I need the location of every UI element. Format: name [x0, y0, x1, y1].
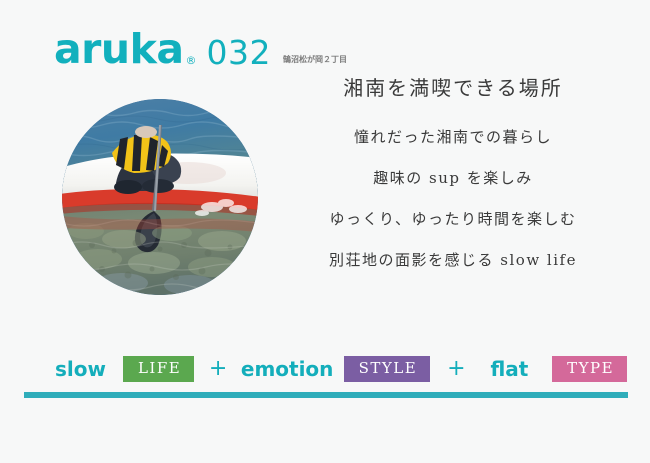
accent-divider: [24, 392, 628, 398]
copy-line-4: 別荘地の面影を感じる slow life: [288, 253, 618, 268]
sup-photo: [62, 99, 258, 295]
copy-line-3: ゆっくり、ゆったり時間を楽しむ: [288, 212, 618, 227]
plus-separator-1: +: [209, 358, 227, 380]
plus-separator-2: +: [447, 358, 465, 380]
registered-trademark-icon: ®: [184, 55, 197, 70]
property-address: 鵠沼松が岡２丁目: [271, 56, 347, 70]
tag-word-emotion: emotion: [241, 359, 334, 379]
brand-wordmark: aruka: [54, 29, 184, 70]
property-number: 032: [197, 36, 272, 70]
copy-line-1: 憧れだった湘南での暮らし: [288, 130, 618, 145]
tag-badge-type: TYPE: [552, 356, 627, 382]
copy-block: 湘南を満喫できる場所 憧れだった湘南での暮らし 趣味の sup を楽しみ ゆっく…: [288, 74, 618, 268]
copy-line-2: 趣味の sup を楽しみ: [288, 171, 618, 186]
tag-badge-life: LIFE: [123, 356, 194, 382]
brand-logo-block: aruka ® 032 鵠沼松が岡２丁目: [54, 29, 347, 70]
tag-badge-style: STYLE: [344, 356, 431, 382]
tag-word-slow: slow: [55, 359, 106, 379]
headline: 湘南を満喫できる場所: [288, 74, 618, 102]
sup-photo-illustration: [62, 99, 258, 295]
slide-canvas: aruka ® 032 鵠沼松が岡２丁目: [0, 0, 650, 463]
tag-word-flat: flat: [490, 359, 528, 379]
feature-tag-bar: slow LIFE + emotion STYLE + flat TYPE: [55, 353, 627, 385]
